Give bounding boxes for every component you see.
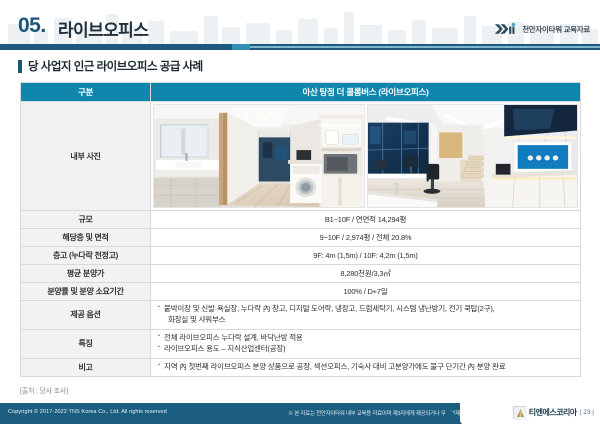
xii-logo-icon xyxy=(494,22,518,36)
row-label-remarks: 비고 xyxy=(21,358,151,376)
bullet-item-continued: 화장실 및 샤워부스 xyxy=(158,315,575,326)
header-divider-accent xyxy=(232,44,250,50)
row-label-average-price: 평균 분양가 xyxy=(21,265,151,283)
row-value-floors-area: 9~10F / 2,974평 / 전체 20.8% xyxy=(151,229,581,247)
row-label-interior-photos: 내부 사진 xyxy=(21,102,151,211)
table-row: 규모 B1~10F / 연면적 14,294평 xyxy=(21,211,581,229)
slide-footer: Copyright © 2017-2022 TNS Korea Co., Ltd… xyxy=(0,403,600,424)
row-value-average-price: 8,280천원/3,3㎡ xyxy=(151,265,581,283)
subtitle-text: 당 사업지 인근 라이브오피스 공급 사례 xyxy=(28,58,203,74)
table-header-row: 구분 아산 탕정 더 콜롬버스 (라이브오피스) xyxy=(21,83,581,102)
table-row: 해당층 및 면적 9~10F / 2,974평 / 전체 20.8% xyxy=(21,229,581,247)
row-value-remarks: 지역 內 첫번째 라이브오피스 분양 상품으로 공장, 섹션오피스, 기숙사 대… xyxy=(151,358,581,376)
slide-header: 05. 라이브오피스 천안자이타워 교육자료 xyxy=(0,0,600,52)
row-label-floors-area: 해당층 및 면적 xyxy=(21,229,151,247)
slide-number: 05. xyxy=(18,14,46,38)
brand-text: 천안자이타워 교육자료 xyxy=(522,24,590,35)
bullet-item: 붙박이장 및 신발·욕실장, 누다락 內 창고, 디지털 도어락, 냉장고, 드… xyxy=(158,304,575,315)
row-value-features: 전체 라이브오피스 누다락 설계, 바닥난방 적용 라이브오피스 용도 – 지식… xyxy=(151,329,581,358)
footer-corner-block: 티엔에스코리아 | 23 | xyxy=(460,403,600,424)
row-label-features: 특징 xyxy=(21,329,151,358)
row-label-options: 제공 옵션 xyxy=(21,301,151,330)
footer-copyright: Copyright © 2017-2022 TNS Korea Co., Ltd… xyxy=(8,409,167,415)
page-number: | 23 | xyxy=(580,409,594,416)
table-header-project: 아산 탕정 더 콜롬버스 (라이브오피스) xyxy=(151,83,581,102)
source-note: [출처 : 당사 조사] xyxy=(20,386,68,396)
bullet-item: 라이브오피스 용도 – 지식산업센터(공장) xyxy=(158,344,575,355)
interior-photo-office-living xyxy=(367,104,579,208)
footer-brand-lockup: 티엔에스코리아 | 23 | xyxy=(513,406,594,419)
bullet-item: 지역 內 첫번째 라이브오피스 분양 상품으로 공장, 섹션오피스, 기숙사 대… xyxy=(158,362,575,373)
row-value-sales-rate: 100% / D+7일 xyxy=(151,283,581,301)
table-row: 층고 (누다락 천정고) 9F: 4m (1,5m) / 10F: 4,2m (… xyxy=(21,247,581,265)
row-value-ceiling-height: 9F: 4m (1,5m) / 10F: 4,2m (1,5m) xyxy=(151,247,581,265)
slide-root: 05. 라이브오피스 천안자이타워 교육자료 당 사업지 인근 라이브오피스 공… xyxy=(0,0,600,424)
comparison-table: 구분 아산 탕정 더 콜롬버스 (라이브오피스) 내부 사진 xyxy=(20,82,581,377)
row-label-sales-rate: 분양률 및 분양 소요기간 xyxy=(21,283,151,301)
table-row: 특징 전체 라이브오피스 누다락 설계, 바닥난방 적용 라이브오피스 용도 –… xyxy=(21,329,581,358)
table-row: 제공 옵션 붙박이장 및 신발·욕실장, 누다락 內 창고, 디지털 도어락, … xyxy=(21,301,581,330)
header-divider-light xyxy=(250,46,600,48)
row-label-ceiling-height: 층고 (누다락 천정고) xyxy=(21,247,151,265)
brand-lockup: 천안자이타워 교육자료 xyxy=(494,22,590,36)
table-row: 평균 분양가 8,280천원/3,3㎡ xyxy=(21,265,581,283)
row-value-interior-photos xyxy=(151,102,581,211)
table-row: 내부 사진 xyxy=(21,102,581,211)
footer-brand-text: 티엔에스코리아 xyxy=(529,407,577,418)
bullet-item: 전체 라이브오피스 누다락 설계, 바닥난방 적용 xyxy=(158,333,575,344)
table-header-category: 구분 xyxy=(21,83,151,102)
row-value-scale: B1~10F / 연면적 14,294평 xyxy=(151,211,581,229)
table-row: 비고 지역 內 첫번째 라이브오피스 분양 상품으로 공장, 섹션오피스, 기숙… xyxy=(21,358,581,376)
row-value-options: 붙박이장 및 신발·욕실장, 누다락 內 창고, 디지털 도어락, 냉장고, 드… xyxy=(151,301,581,330)
page-title: 라이브오피스 xyxy=(58,16,148,41)
subtitle-accent-bar xyxy=(18,60,22,73)
table-row: 분양률 및 분양 소요기간 100% / D+7일 xyxy=(21,283,581,301)
tns-korea-logo-icon xyxy=(513,406,526,419)
interior-photo-bathroom-corridor xyxy=(153,104,365,208)
section-subtitle: 당 사업지 인근 라이브오피스 공급 사례 xyxy=(18,58,203,74)
row-label-scale: 규모 xyxy=(21,211,151,229)
